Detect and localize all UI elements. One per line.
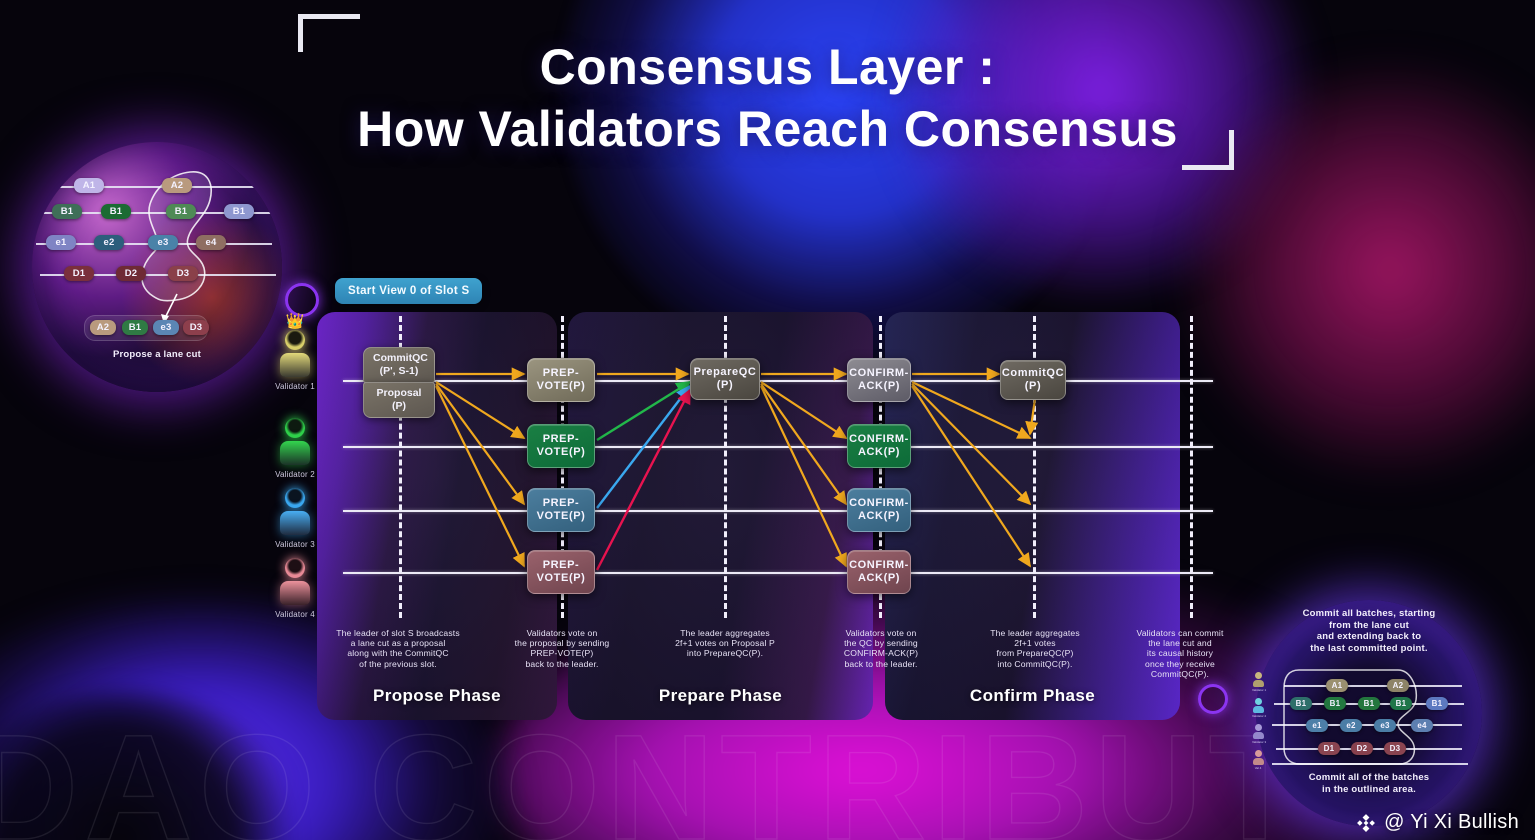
node-commitqc-prev-title: CommitQC (P', S-1)	[363, 347, 435, 383]
node-prepareqc[interactable]: PrepareQC (P)	[690, 358, 760, 400]
node-commitqc[interactable]: CommitQC (P)	[1000, 360, 1066, 400]
node-prep-vote-v2[interactable]: PREP- VOTE(P)	[527, 424, 595, 468]
node-prep-vote-v3[interactable]: PREP- VOTE(P)	[527, 488, 595, 532]
node-confirm-ack-v3[interactable]: CONFIRM- ACK(P)	[847, 488, 911, 532]
poster-canvas: DAO CONTRIBUT Consensus Layer : How Vali…	[0, 0, 1535, 840]
node-confirm-ack-v4[interactable]: CONFIRM- ACK(P)	[847, 550, 911, 594]
node-proposal: Proposal (P)	[363, 382, 435, 418]
message-arrows	[0, 0, 1535, 840]
node-prep-vote-v1[interactable]: PREP- VOTE(P)	[527, 358, 595, 402]
node-commitqc-prev[interactable]: CommitQC (P', S-1) Proposal (P)	[363, 347, 435, 418]
node-prep-vote-v4[interactable]: PREP- VOTE(P)	[527, 550, 595, 594]
node-confirm-ack-v1[interactable]: CONFIRM- ACK(P)	[847, 358, 911, 402]
node-confirm-ack-v2[interactable]: CONFIRM- ACK(P)	[847, 424, 911, 468]
